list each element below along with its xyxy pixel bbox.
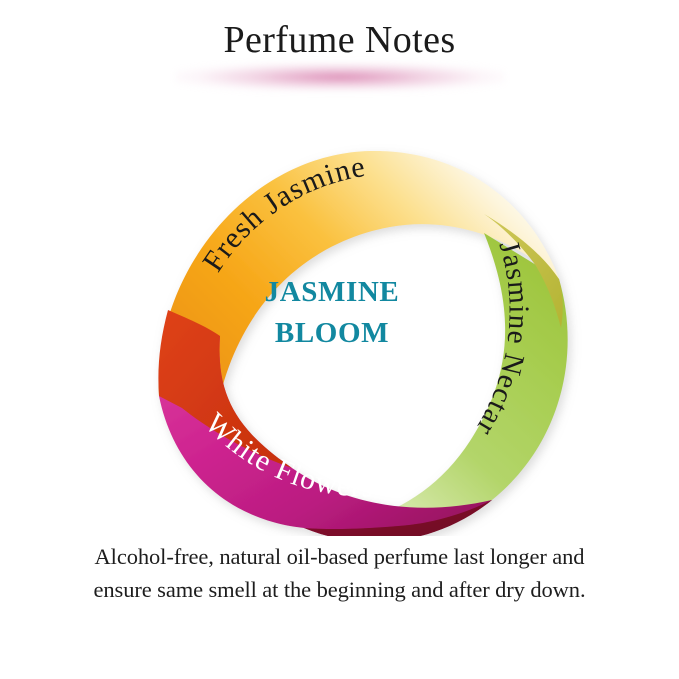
infographic-page: Perfume Notes [0, 0, 679, 679]
caption-line-2: ensure same smell at the beginning and a… [0, 573, 679, 606]
caption-block: Alcohol-free, natural oil-based perfume … [0, 540, 679, 606]
perfume-notes-diagram: Fresh Jasmine Jasmine Nectar White Flowe… [112, 96, 582, 536]
title-glow-decoration [175, 62, 505, 92]
caption-line-1: Alcohol-free, natural oil-based perfume … [0, 540, 679, 573]
title-zone: Perfume Notes [0, 0, 679, 100]
page-title: Perfume Notes [0, 18, 679, 62]
